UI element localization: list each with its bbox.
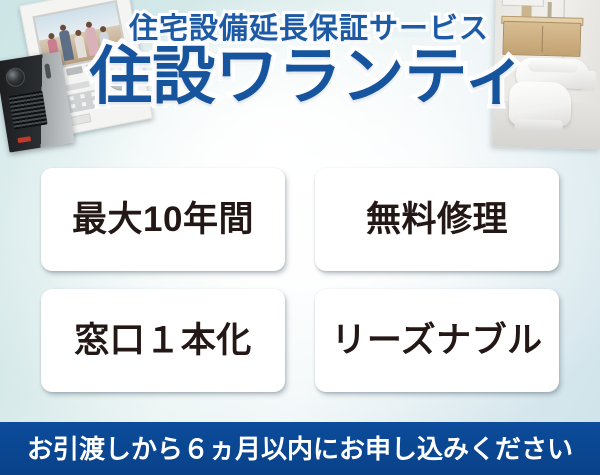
door-station-slot (44, 63, 51, 79)
cta-text: お引渡しから６ヵ月以内にお申し込みください (27, 436, 573, 462)
speaker-grille-icon (9, 91, 48, 130)
toilet-lid (528, 59, 578, 72)
feature-label: 無料修理 (366, 202, 508, 237)
feature-label: 最大10年間 (72, 202, 254, 237)
screen-figure-head (99, 26, 106, 33)
intercom-button (65, 66, 83, 76)
feature-label: リーズナブル (331, 323, 542, 358)
promo-banner: 住宅設備延長保証サービス 住設ワランティ 最大10年間 無料修理 窓口１本化 リ… (0, 0, 600, 475)
feature-box-single-contact: 窓口１本化 (41, 289, 285, 392)
bathroom-toilet-photo (492, 0, 600, 149)
screen-figure-head (47, 33, 54, 40)
bathroom-decor-stick (547, 2, 551, 18)
feature-label: 窓口１本化 (74, 323, 252, 358)
feature-box-free-repair: 無料修理 (315, 168, 559, 271)
screen-figure-head (85, 21, 92, 28)
bathroom-wooden-cabinet (502, 21, 581, 57)
screen-figure-head (60, 24, 67, 31)
feature-box-grid: 最大10年間 無料修理 窓口１本化 リーズナブル (41, 168, 559, 392)
feature-box-max-years: 最大10年間 (41, 168, 285, 271)
toilet-control-panel (582, 71, 597, 91)
camera-lens-icon (5, 66, 27, 88)
cta-bar: お引渡しから６ヵ月以内にお申し込みください (0, 422, 600, 475)
feature-box-reasonable: リーズナブル (315, 289, 559, 392)
intercom-button (86, 62, 104, 72)
call-button-icon (17, 136, 31, 143)
toilet-base (514, 119, 562, 132)
screen-figure-head (74, 30, 81, 37)
